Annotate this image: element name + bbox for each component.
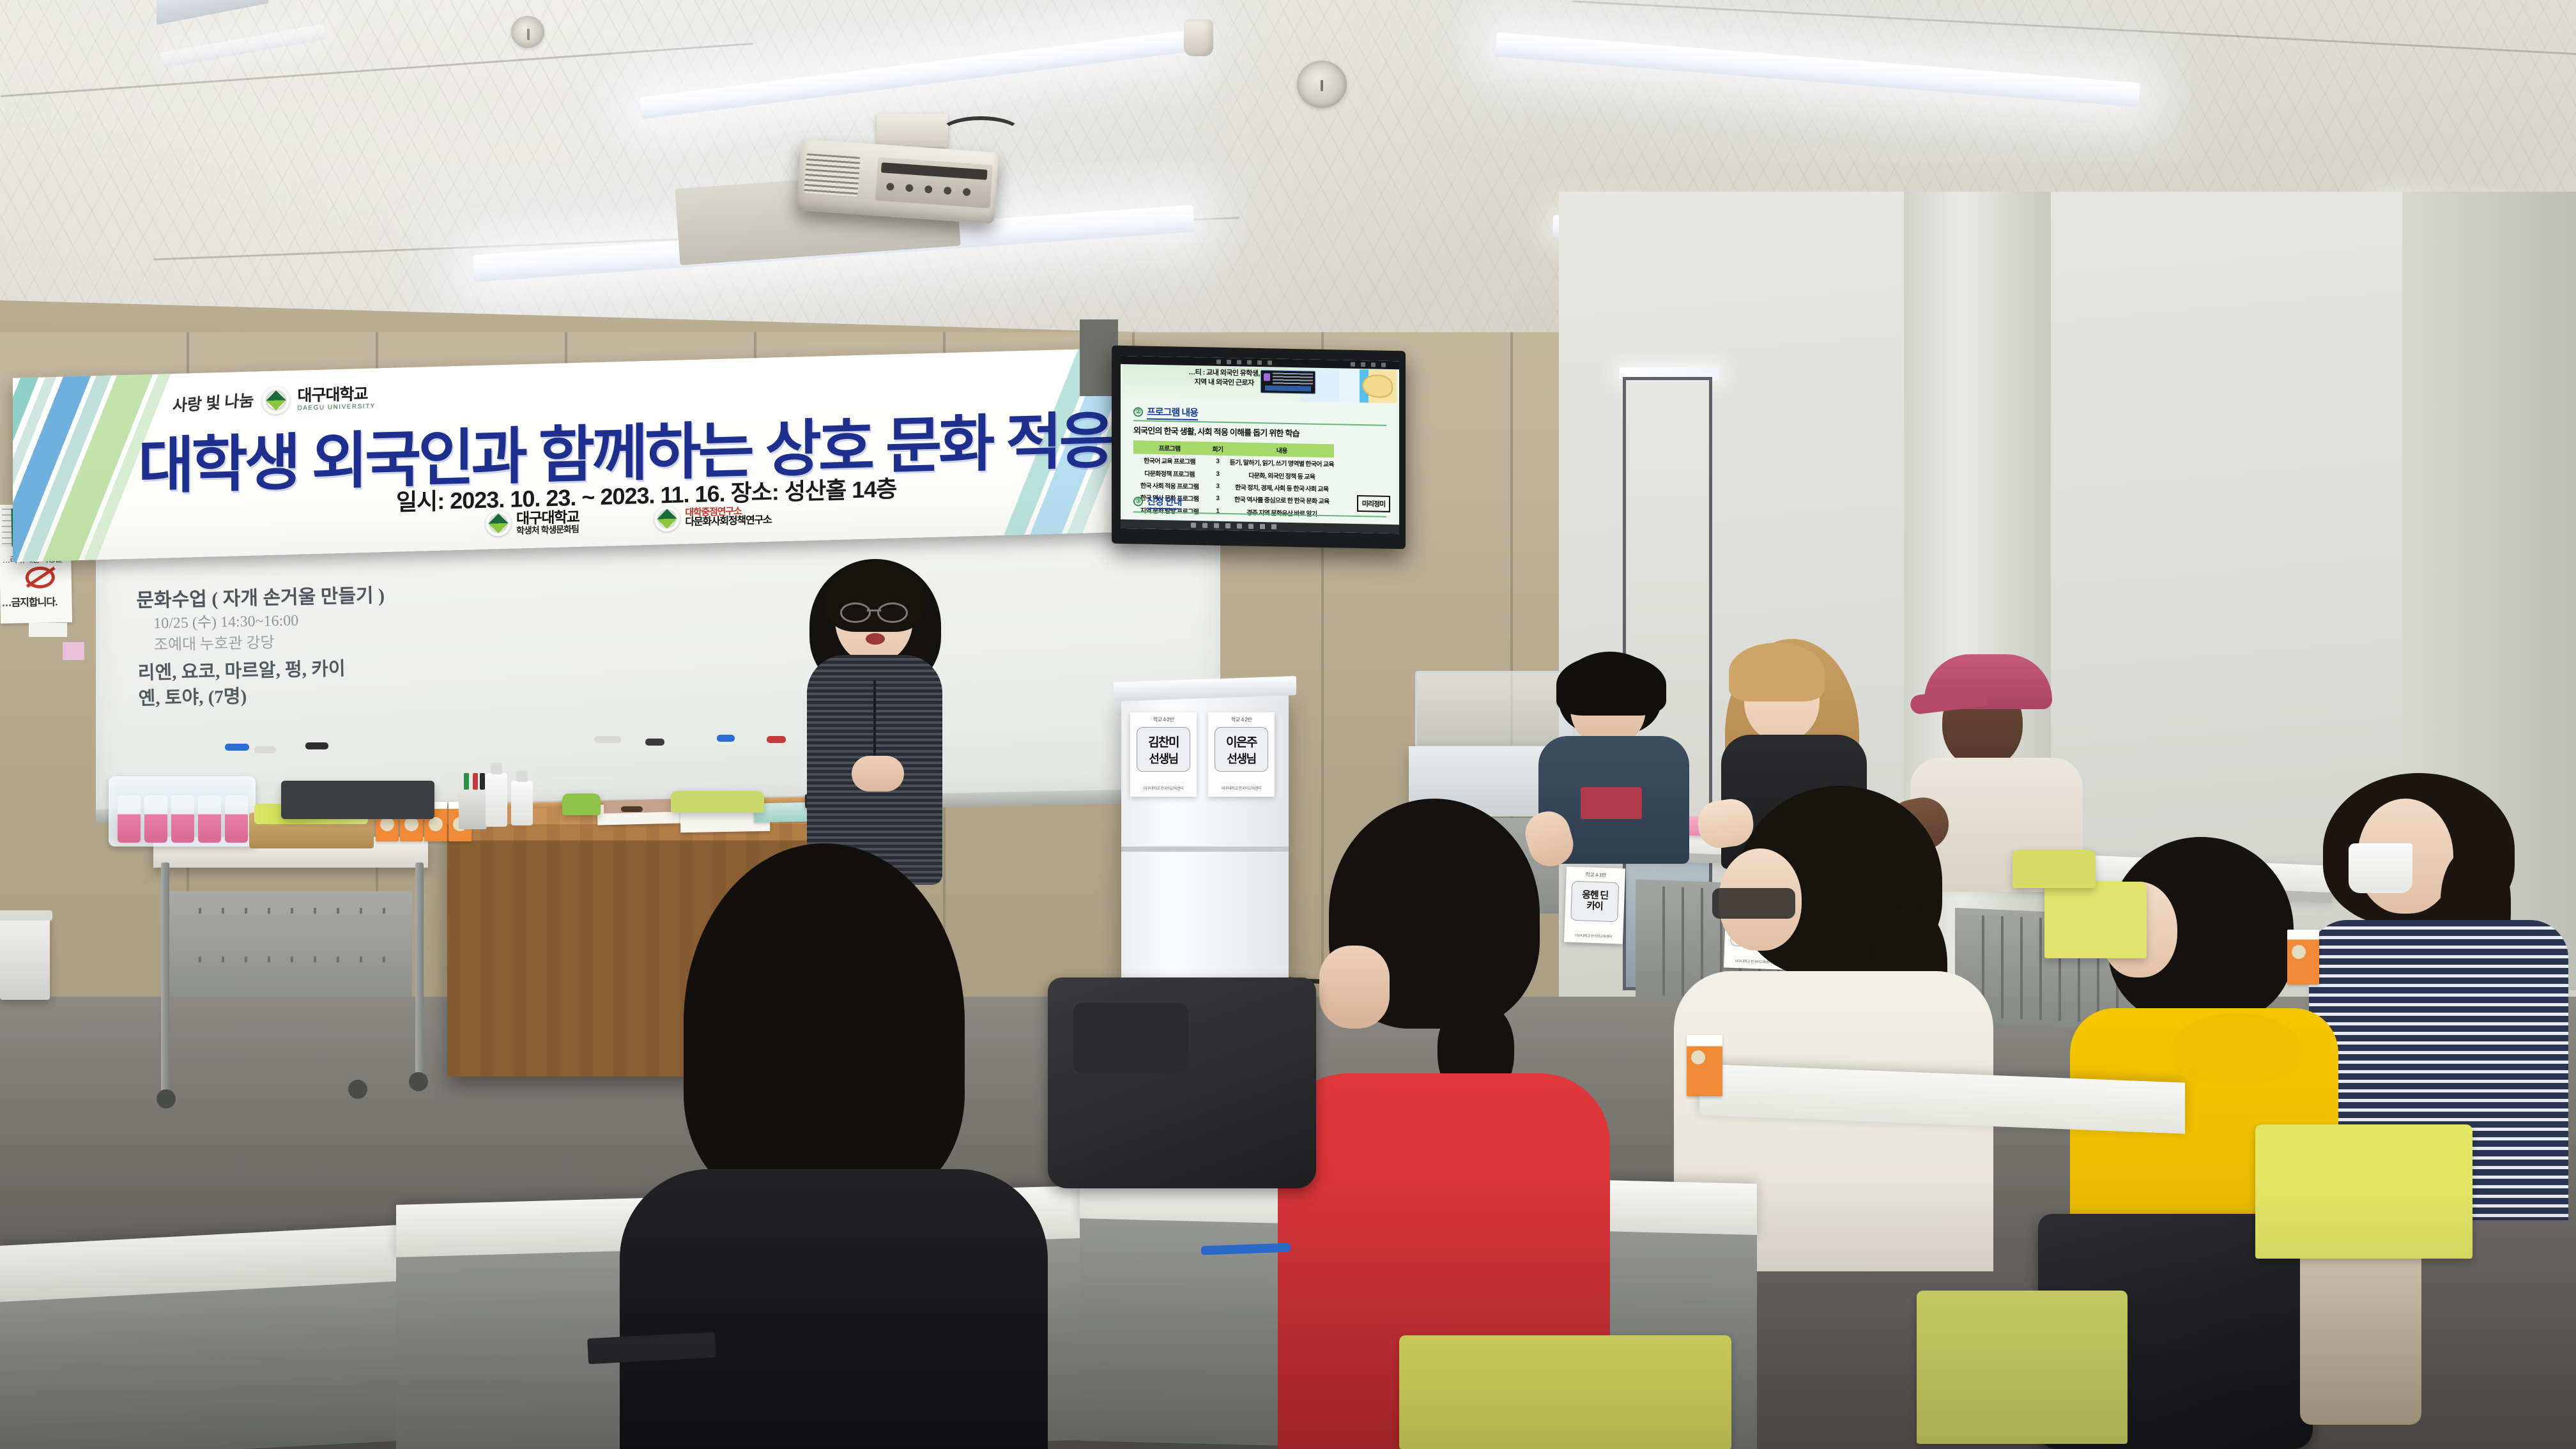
pen[interactable] (480, 773, 485, 790)
student-hair-front (1729, 643, 1825, 701)
water-bottle (118, 795, 141, 843)
table-leg (161, 862, 169, 1099)
chair[interactable] (1399, 1335, 1731, 1449)
slide-section-3-heading: ③ 신청 안내 (1133, 494, 1181, 509)
whiteboard-marker[interactable] (767, 736, 786, 743)
program-sessions: 3 (1206, 468, 1230, 480)
hand-sanitizer[interactable] (486, 773, 507, 827)
presenter-dress-seam (873, 680, 876, 763)
program-table-th-program: 프로그램 (1133, 440, 1206, 455)
trash-lid (0, 910, 52, 921)
projector-ports (875, 157, 993, 208)
presenter-mouth (866, 633, 885, 645)
pen[interactable] (464, 773, 469, 790)
nameplate-name: 이은주 (1226, 733, 1257, 750)
nameplate-bubble: 이은주 선생님 (1215, 727, 1268, 772)
slide-section-2-number: ② (1133, 407, 1143, 417)
program-name: 다문화정책 프로그램 (1133, 466, 1206, 480)
banner-university-name: 대구대학교 DAEGU UNIVERSITY (298, 386, 376, 411)
glasses-icon (1712, 888, 1795, 919)
whiteboard-eraser[interactable] (594, 736, 621, 743)
sponsor-logo-institute: 대학중점연구소 다문화사회정책연구소 (654, 503, 771, 532)
university-seal-icon (262, 386, 290, 415)
projector-vent (804, 153, 860, 197)
refreshment-table-panel (169, 891, 412, 997)
projector-mount (877, 114, 948, 147)
trash-bin (0, 917, 50, 1000)
program-sessions: 3 (1206, 455, 1230, 468)
classroom-photo: …리 휴대폰 사용을 …금지합니다. 문화수업 ( 자개 손거울 만들기 ) 1… (0, 0, 2576, 1449)
glasses-icon (840, 602, 908, 619)
hand-sanitizer[interactable] (511, 781, 533, 825)
program-content: 경주 지역 문화유산 바로 알기 (1230, 505, 1334, 520)
table-leg (415, 862, 424, 1086)
chair[interactable] (2012, 850, 2096, 888)
table-caster (157, 1089, 176, 1108)
hoodie-hood (2172, 1013, 2300, 1084)
sponsor-2-dept: 다문화사회정책연구소 (685, 516, 771, 528)
ceiling-speaker-icon (1297, 61, 1347, 108)
nameplate-bubble: 김찬미 선생님 (1137, 727, 1190, 772)
slide-section-3-title: 신청 안내 (1147, 494, 1181, 510)
banner-slogan: 사랑 빛 나눔 (172, 388, 255, 417)
pen-holder[interactable] (459, 787, 487, 829)
sprinkler-icon (1184, 19, 1213, 56)
chair-back[interactable] (281, 781, 434, 819)
projector-cable (939, 116, 1022, 155)
table-caster (409, 1072, 428, 1091)
whiteboard-notes: 문화수업 ( 자개 손거울 만들기 ) 10/25 (수) 14:30~16:0… (136, 581, 439, 711)
display-screen: …티 : 교내 외국인 유학생, 지역 내 외국인 근로자 ② 프로그램 내용 … (1121, 356, 1399, 533)
water-bottle (225, 795, 248, 843)
program-name: 한국어 교육 프로그램 (1133, 454, 1206, 468)
water-bottle-pack (109, 776, 256, 847)
podium-nameplate: 학교 4-2반 김찬미 선생님 대구대학교 한국어교육센터 (1130, 712, 1197, 797)
program-sessions: 1 (1206, 505, 1230, 517)
whiteboard-eraser[interactable] (254, 746, 276, 753)
notification-popup[interactable] (1261, 370, 1315, 394)
popup-app-icon (1264, 373, 1270, 381)
whiteboard-marker[interactable] (717, 735, 735, 742)
whiteboard-marker[interactable] (305, 742, 328, 749)
university-seal-icon (654, 506, 680, 532)
ceiling-speaker-icon (511, 16, 544, 48)
nameplate-tag: 학교 4-2반 (1153, 716, 1174, 723)
face-mask-icon (2349, 843, 2412, 893)
program-sessions: 3 (1206, 480, 1230, 493)
nameplate-footer: 대구대학교 한국어교육센터 (1144, 785, 1184, 791)
chair[interactable] (2044, 882, 2147, 958)
no-phone-notice-line2: …금지합니다. (1, 593, 57, 609)
tote-bag (2300, 1246, 2421, 1425)
event-banner: 사랑 빛 나눔 대구대학교 DAEGU UNIVERSITY 대학생 외국인과 … (13, 348, 1137, 562)
nameplate-tag: 학교 4-2반 (1231, 716, 1252, 723)
wall-small-note (29, 623, 67, 637)
podium-nameplate: 학교 4-2반 이은주 선생님 대구대학교 한국어교육센터 (1208, 712, 1275, 797)
presenter-hands (852, 756, 904, 792)
student-body (620, 1169, 1048, 1449)
slide-section-2-heading: ② 프로그램 내용 (1133, 404, 1198, 420)
nameplate-footer: 대구대학교 한국어교육센터 (1222, 785, 1262, 791)
chair[interactable] (1917, 1291, 2127, 1444)
backpack-pocket (1073, 1003, 1188, 1073)
table-caster (348, 1080, 367, 1099)
chair[interactable] (2255, 1124, 2472, 1259)
presenter (795, 553, 955, 885)
water-bottle (144, 795, 167, 843)
student-hand (1319, 946, 1390, 1029)
wall-pink-note (63, 642, 84, 660)
presentation-slide: …티 : 교내 외국인 유학생, 지역 내 외국인 근로자 ② 프로그램 내용 … (1123, 365, 1397, 524)
student-hair-front (1556, 654, 1666, 716)
chair[interactable] (671, 791, 764, 813)
wall-display[interactable]: …티 : 교내 외국인 유학생, 지역 내 외국인 근로자 ② 프로그램 내용 … (1112, 346, 1406, 549)
whiteboard-marker[interactable] (225, 744, 249, 751)
sponsor-logo-university: 대구대학교 학생처 학생문화팀 (486, 509, 579, 537)
nameplate-name: 김찬미 (1148, 733, 1179, 750)
popup-action-button[interactable] (1265, 385, 1311, 391)
juice-box[interactable] (1687, 1035, 1722, 1096)
water-bottle (171, 795, 194, 843)
chair[interactable] (562, 793, 601, 815)
program-table-th-sessions: 회기 (1206, 441, 1230, 456)
sponsor-1-name: 대구대학교 (516, 509, 579, 526)
student-hair (684, 843, 965, 1201)
program-sessions: 3 (1206, 493, 1230, 505)
water-bottle (198, 795, 221, 843)
popup-text (1273, 372, 1313, 386)
presenter-hair-front (826, 562, 924, 632)
slide-section-2-title: 프로그램 내용 (1147, 405, 1198, 421)
slide-stamp: 미리정미 (1357, 495, 1390, 512)
desk-pen[interactable] (621, 806, 643, 812)
pen[interactable] (473, 773, 478, 790)
program-name: 한국 사회 적응 프로그램 (1133, 479, 1206, 493)
nameplate-honorific: 선생님 (1227, 750, 1255, 767)
banner-university-kr: 대구대학교 (298, 385, 368, 404)
whiteboard-marker[interactable] (645, 739, 664, 746)
university-seal-icon (486, 510, 511, 537)
slide-section-2-desc: 외국인의 한국 생활, 사회 적응 이해를 돕기 위한 학습 (1133, 424, 1299, 439)
nameplate-honorific: 선생님 (1149, 750, 1177, 767)
juice-box[interactable] (2287, 930, 2319, 985)
slide-section-3-number: ③ (1133, 496, 1143, 506)
sponsor-1-dept: 학생처 학생문화팀 (516, 525, 579, 535)
